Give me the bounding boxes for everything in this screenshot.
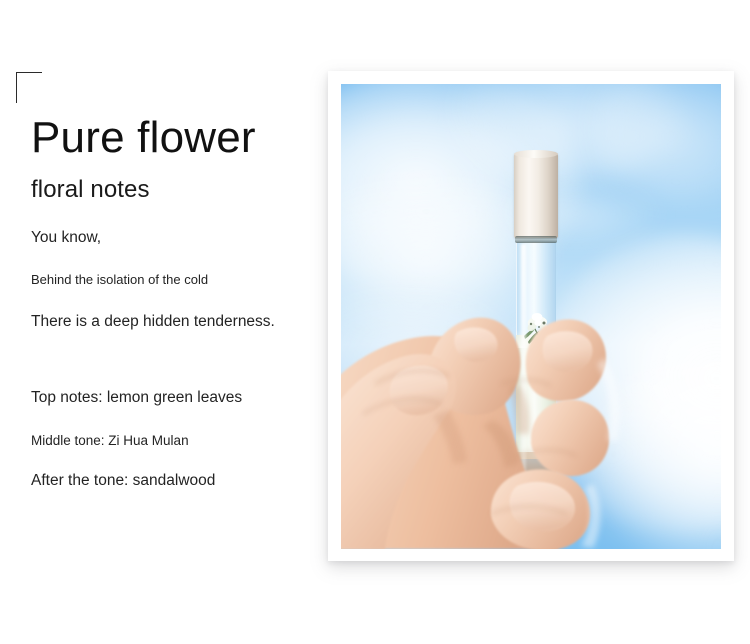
fragrance-notes-block: Top notes: lemon green leaves Middle ton… [31,390,331,489]
product-photo-card [328,71,734,561]
corner-bracket-decoration [16,72,42,103]
middle-tone-line: Middle tone: Zi Hua Mulan [31,434,331,448]
bottle-cap-top [514,150,558,158]
verse-line: There is a deep hidden tenderness. [31,314,331,330]
text-column: Pure flower floral notes You know, Behin… [0,0,340,644]
bottle-collar [515,236,557,243]
verse-line: Behind the isolation of the cold [31,273,331,286]
after-tone-line: After the tone: sandalwood [31,473,331,489]
perfume-bottle [510,152,562,542]
page-subtitle: floral notes [31,177,150,203]
verse-line: You know, [31,230,331,246]
top-notes-line: Top notes: lemon green leaves [31,390,331,406]
page-title: Pure flower [31,115,256,161]
bottle-cap [514,152,558,238]
verse-block: You know, Behind the isolation of the co… [31,230,331,329]
bottle-highlight [521,244,526,534]
product-photo [341,84,721,549]
